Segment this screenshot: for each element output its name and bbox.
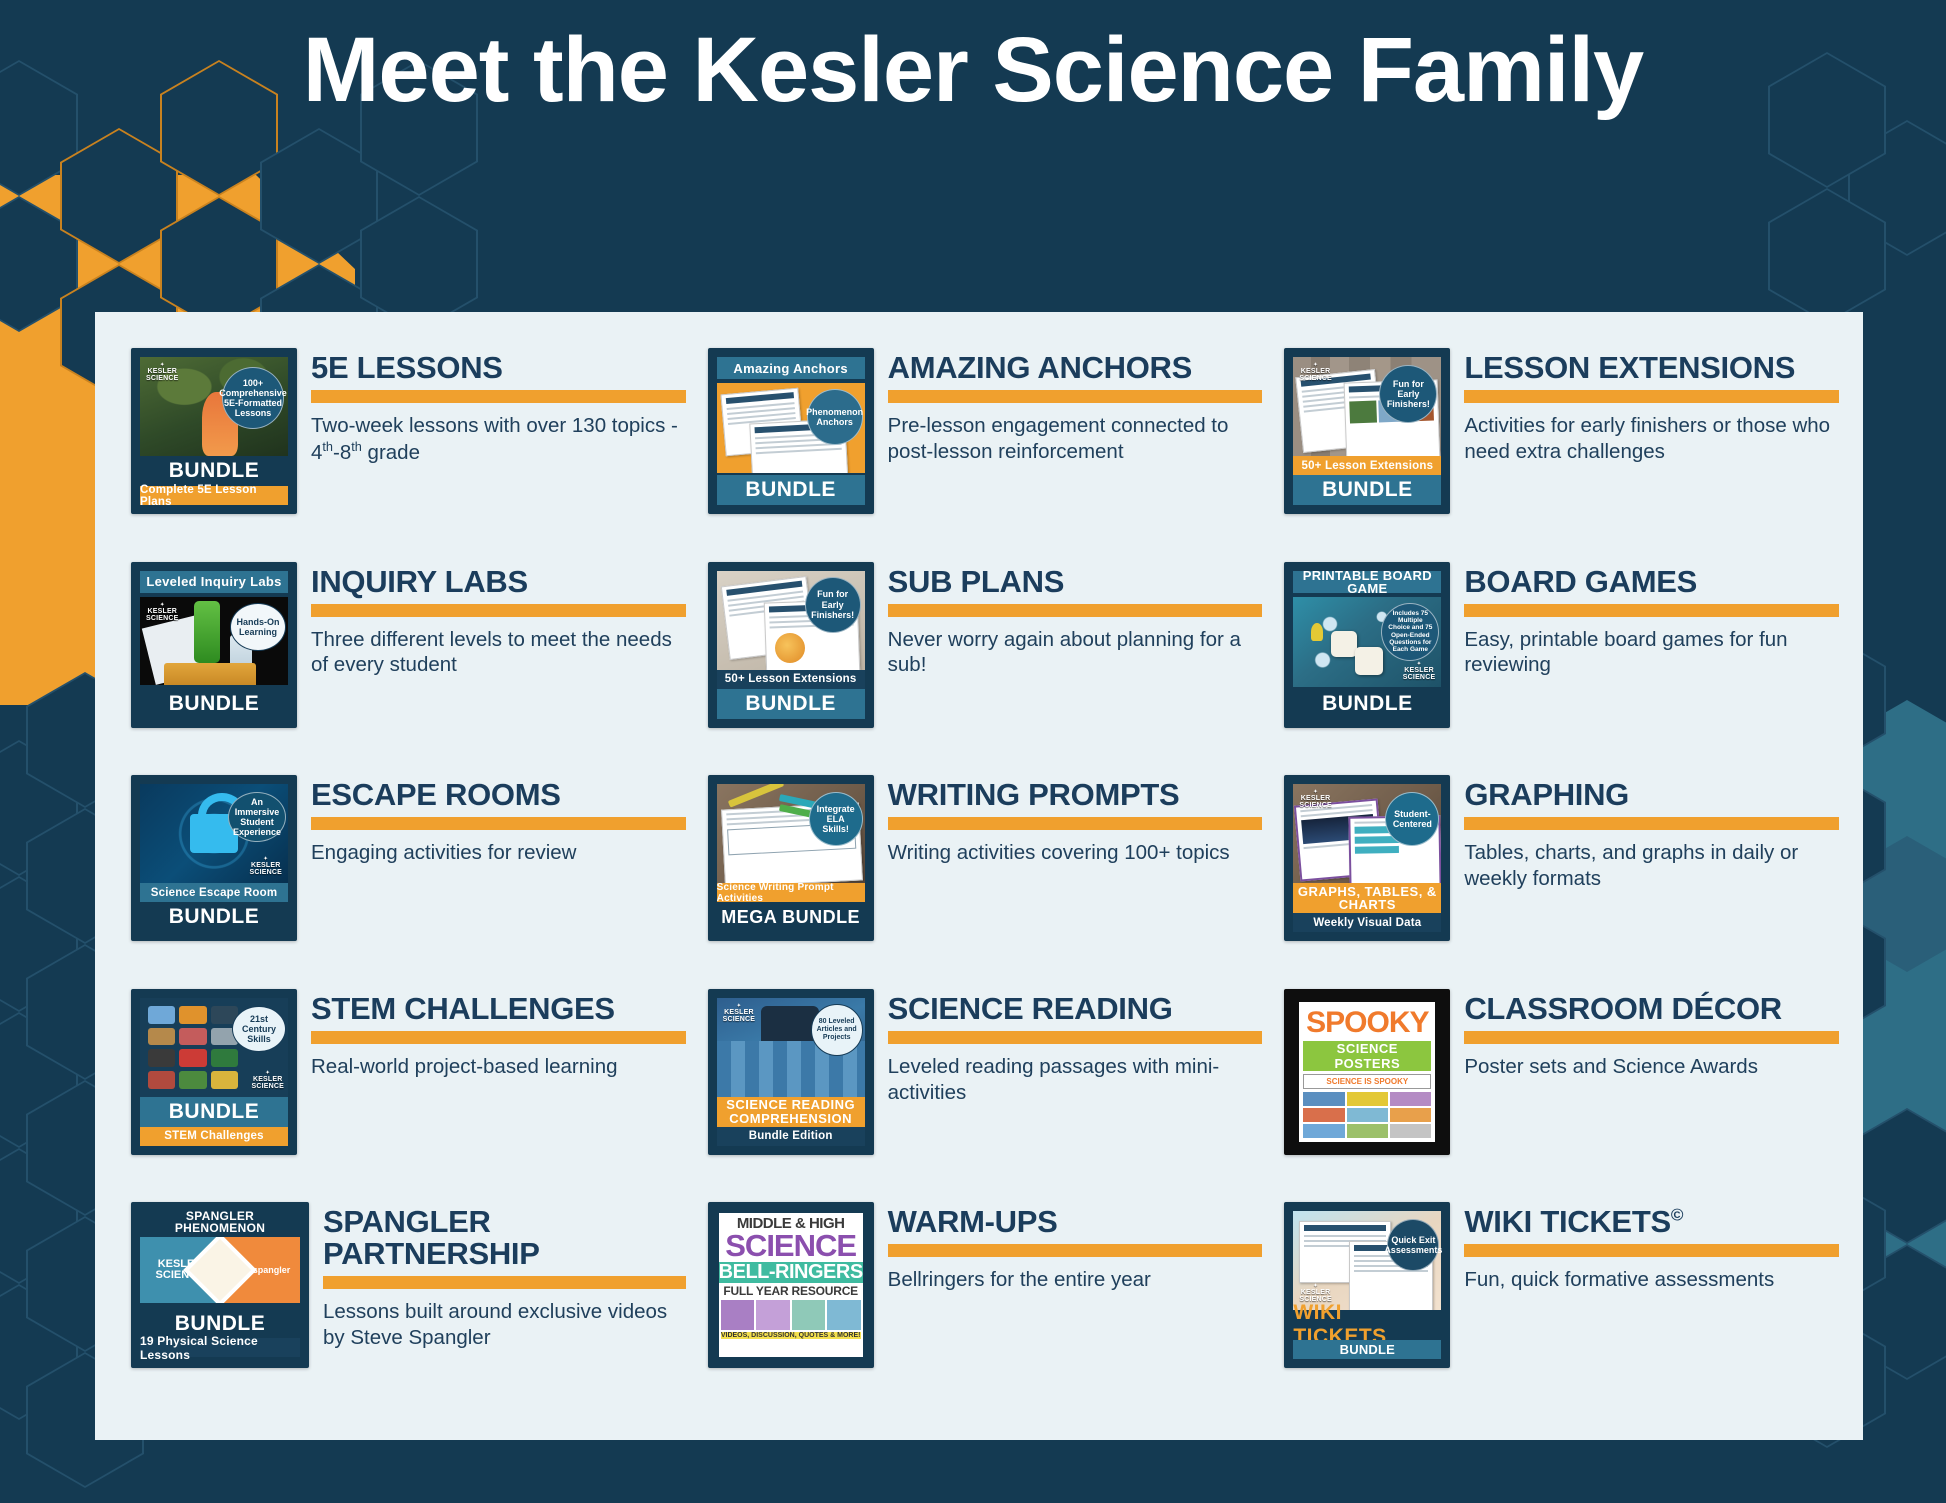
thumbnail-bundle-label: BUNDLE	[1293, 689, 1441, 719]
footer-strip-label: VIDEOS, DISCUSSION, QUOTES & MORE!	[721, 1332, 861, 1339]
card-description: Poster sets and Science Awards	[1464, 1054, 1839, 1080]
page-title: Meet the Kesler Science Family	[0, 18, 1946, 124]
card-text-sub-plans: SUB PLANS Never worry again about planni…	[888, 562, 1263, 679]
title-rule	[1464, 390, 1839, 403]
card-text-spangler-partnership: SPANGLER PARTNERSHIP Lessons built aroun…	[323, 1202, 686, 1351]
tree-icon	[179, 1071, 206, 1089]
card-text-escape-rooms: ESCAPE ROOMS Engaging activities for rev…	[311, 775, 686, 866]
card-title: WARM-UPS	[888, 1206, 1263, 1238]
card-description: Lessons built around exclusive videos by…	[323, 1299, 686, 1351]
die-icon	[1331, 631, 1357, 657]
thumbnail-bundle-label: BUNDLE	[140, 456, 288, 486]
science-label: SCIENCE	[719, 1231, 863, 1260]
title-rule	[1464, 1244, 1839, 1257]
birdhouse-icon	[179, 1006, 206, 1024]
thumbnail-badge: Phenomenon Anchors	[807, 389, 863, 445]
product-card-classroom-decor[interactable]: SPOOKY SCIENCE POSTERS SCIENCE IS SPOOKY…	[1272, 989, 1839, 1203]
full-year-label: FULL YEAR RESOURCE	[719, 1284, 863, 1298]
card-description: Real-world project-based learning	[311, 1054, 686, 1080]
thumbnail-badge: Fun for Early Finishers!	[805, 577, 861, 633]
card-title: LESSON EXTENSIONS	[1464, 352, 1839, 384]
thumbnail-badge: Integrate ELA Skills!	[809, 792, 863, 846]
card-description: Pre-lesson engagement connected to post-…	[888, 413, 1263, 465]
thumbnail-badge: An Immersive Student Experience	[228, 792, 286, 842]
product-card-inquiry-labs[interactable]: Leveled Inquiry Labs ✦KESLERSCIENCE Hand…	[119, 562, 686, 776]
thumbnail-spangler[interactable]: SPANGLER PHENOMENON KESLERSCIENCE steves…	[131, 1202, 309, 1368]
thumbnail-sub-label: 50+ Lesson Extensions	[1293, 456, 1441, 475]
poster-grid	[1303, 1092, 1431, 1138]
thumbnail-sub-label: 50+ Lesson Extensions	[717, 670, 865, 689]
product-grid: ✦KESLERSCIENCE 100+ Comprehensive 5E-For…	[95, 312, 1863, 1440]
card-text-lesson-extensions: LESSON EXTENSIONS Activities for early f…	[1464, 348, 1839, 465]
thumbnail-lesson-extensions[interactable]: ✦KESLERSCIENCE Fun for Early Finishers! …	[1284, 348, 1450, 514]
thumbnail-writing-prompts[interactable]: Integrate ELA Skills! Science Writing Pr…	[708, 775, 874, 941]
terrarium-icon	[148, 1028, 175, 1046]
title-rule	[1464, 1031, 1839, 1044]
thumbnail-sub-label: Bundle Edition	[717, 1127, 865, 1146]
thumbnail-bundle-label: BUNDLE	[717, 689, 865, 719]
card-title: INQUIRY LABS	[311, 566, 686, 598]
card-text-5e-lessons: 5E LESSONS Two-week lessons with over 13…	[311, 348, 686, 465]
card-description: Never worry again about planning for a s…	[888, 627, 1263, 679]
soda-bottle	[194, 601, 220, 663]
parachute-icon	[179, 1028, 206, 1046]
title-rule	[888, 1244, 1263, 1257]
preview-grid	[721, 1300, 861, 1330]
card-text-stem-challenges: STEM CHALLENGES Real-world project-based…	[311, 989, 686, 1080]
product-card-warm-ups[interactable]: MIDDLE & HIGH SCIENCE BELL-RINGERS FULL …	[696, 1202, 1263, 1416]
card-text-inquiry-labs: INQUIRY LABS Three different levels to m…	[311, 562, 686, 679]
product-card-science-reading[interactable]: ✦KESLERSCIENCE 80 Leveled Articles and P…	[696, 989, 1263, 1203]
posters-heading: SCIENCE POSTERS	[1303, 1041, 1431, 1071]
strawberry-icon	[179, 1049, 206, 1067]
card-text-writing-prompts: WRITING PROMPTS Writing activities cover…	[888, 775, 1263, 866]
product-card-writing-prompts[interactable]: Integrate ELA Skills! Science Writing Pr…	[696, 775, 1263, 989]
thumbnail-bundle-label: BUNDLE	[140, 902, 288, 932]
card-description: Activities for early finishers or those …	[1464, 413, 1839, 465]
thumbnail-board-games[interactable]: PRINTABLE BOARD GAME Includes 75 Multipl…	[1284, 562, 1450, 728]
thumbnail-warm-ups[interactable]: MIDDLE & HIGH SCIENCE BELL-RINGERS FULL …	[708, 1202, 874, 1368]
thumbnail-badge: Fun for Early Finishers!	[1379, 365, 1437, 423]
title-rule	[311, 817, 686, 830]
card-text-science-reading: SCIENCE READING Leveled reading passages…	[888, 989, 1263, 1106]
pencil-icon	[727, 784, 783, 808]
card-description: Leveled reading passages with mini-activ…	[888, 1054, 1263, 1106]
thumbnail-sub-label: Weekly Visual Data	[1293, 913, 1441, 932]
kesler-science-logo: ✦KESLERSCIENCE	[1299, 790, 1332, 809]
copyright-symbol: ©	[1671, 1206, 1683, 1225]
kesler-science-logo: ✦KESLERSCIENCE	[1299, 1284, 1332, 1303]
title-rule	[1464, 604, 1839, 617]
thumbnail-inquiry-labs[interactable]: Leveled Inquiry Labs ✦KESLERSCIENCE Hand…	[131, 562, 297, 728]
card-description: Two-week lessons with over 130 topics - …	[311, 413, 686, 465]
title-rule	[311, 604, 686, 617]
product-card-wiki-tickets[interactable]: Quick Exit Assessments ✦KESLERSCIENCE WI…	[1272, 1202, 1839, 1416]
kesler-science-logo: ✦KESLERSCIENCE	[249, 857, 282, 876]
card-title: 5E LESSONS	[311, 352, 686, 384]
product-card-5e-lessons[interactable]: ✦KESLERSCIENCE 100+ Comprehensive 5E-For…	[119, 348, 686, 562]
card-title-main: WIKI TICKETS	[1464, 1204, 1671, 1239]
product-card-spangler-partnership[interactable]: SPANGLER PHENOMENON KESLERSCIENCE steves…	[119, 1202, 686, 1416]
thumbnail-bundle-label: WIKI TICKETS	[1293, 1310, 1441, 1340]
card-title: SUB PLANS	[888, 566, 1263, 598]
card-text-amazing-anchors: AMAZING ANCHORS Pre-lesson engagement co…	[888, 348, 1263, 465]
card-title: WIKI TICKETS©	[1464, 1206, 1839, 1238]
card-text-graphing: GRAPHING Tables, charts, and graphs in d…	[1464, 775, 1839, 892]
thumbnail-sub-label: Science Escape Room	[140, 883, 288, 902]
product-card-board-games[interactable]: PRINTABLE BOARD GAME Includes 75 Multipl…	[1272, 562, 1839, 776]
card-text-board-games: BOARD GAMES Easy, printable board games …	[1464, 562, 1839, 679]
card-description: Three different levels to meet the needs…	[311, 627, 686, 679]
thumbnail-top-label: SPANGLER PHENOMENON	[140, 1211, 300, 1233]
thumbnail-badge: 80 Leveled Articles and Projects	[811, 1004, 863, 1056]
thumbnail-wiki-tickets[interactable]: Quick Exit Assessments ✦KESLERSCIENCE WI…	[1284, 1202, 1450, 1368]
thumbnail-badge: Includes 75 Multiple Choice and 75 Open-…	[1381, 603, 1439, 661]
thumbnail-sub-label: STEM Challenges	[140, 1127, 288, 1146]
product-card-graphing[interactable]: ✦KESLERSCIENCE Student-Centered GRAPHS, …	[1272, 775, 1839, 989]
thumbnail-artwork: KESLERSCIENCE stevespangler	[140, 1237, 300, 1303]
thumbnail-bundle-label: MEGA BUNDLE	[717, 902, 865, 932]
title-rule	[888, 817, 1263, 830]
product-card-escape-rooms[interactable]: An Immersive Student Experience ✦KESLERS…	[119, 775, 686, 989]
thumbnail-top-label: Leveled Inquiry Labs	[140, 571, 288, 593]
thumbnail-top-label: Amazing Anchors	[717, 357, 865, 379]
product-card-lesson-extensions[interactable]: ✦KESLERSCIENCE Fun for Early Finishers! …	[1272, 348, 1839, 562]
card-title: ESCAPE ROOMS	[311, 779, 686, 811]
thumbnail-graphing[interactable]: ✦KESLERSCIENCE Student-Centered GRAPHS, …	[1284, 775, 1450, 941]
kesler-science-logo: ✦KESLERSCIENCE	[251, 1071, 284, 1090]
title-rule	[888, 604, 1263, 617]
title-rule	[888, 1031, 1263, 1044]
thumbnail-sub-plans[interactable]: Fun for Early Finishers! 50+ Lesson Exte…	[708, 562, 874, 728]
card-description: Fun, quick formative assessments	[1464, 1267, 1839, 1293]
content-panel: ✦KESLERSCIENCE 100+ Comprehensive 5E-For…	[95, 312, 1863, 1440]
card-title: GRAPHING	[1464, 779, 1839, 811]
card-title: AMAZING ANCHORS	[888, 352, 1263, 384]
thumbnail-sub-label: Science Writing Prompt Activities	[717, 883, 865, 902]
thumbnail-bundle-label: BUNDLE	[140, 1097, 288, 1127]
thumbnail-badge: Hands-On Learning	[230, 603, 286, 651]
bell-ringers-label: BELL-RINGERS	[719, 1262, 863, 1283]
kesler-science-logo: ✦KESLERSCIENCE	[146, 603, 179, 622]
title-rule	[888, 390, 1263, 403]
thumbnail-sub-label: Complete 5E Lesson Plans	[140, 486, 288, 505]
product-card-stem-challenges[interactable]: 21st Century Skills ✦KESLERSCIENCE BUNDL…	[119, 989, 686, 1203]
card-description: Writing activities covering 100+ topics	[888, 840, 1263, 866]
title-rule	[311, 390, 686, 403]
thumbnail-sub-label: 19 Physical Science Lessons	[140, 1338, 300, 1357]
thumbnail-artwork: MIDDLE & HIGH SCIENCE BELL-RINGERS FULL …	[719, 1213, 863, 1357]
card-text-wiki-tickets: WIKI TICKETS© Fun, quick formative asses…	[1464, 1202, 1839, 1293]
thumbnail-artwork: SPOOKY SCIENCE POSTERS SCIENCE IS SPOOKY	[1299, 1002, 1435, 1142]
thumbnail-classroom-decor[interactable]: SPOOKY SCIENCE POSTERS SCIENCE IS SPOOKY	[1284, 989, 1450, 1155]
card-title: BOARD GAMES	[1464, 566, 1839, 598]
thumbnail-stem-challenges[interactable]: 21st Century Skills ✦KESLERSCIENCE BUNDL…	[131, 989, 297, 1155]
thumbnail-badge: 100+ Comprehensive 5E-Formatted Lessons	[222, 367, 284, 429]
card-title: SPANGLER PARTNERSHIP	[323, 1206, 686, 1270]
product-card-amazing-anchors[interactable]: Amazing Anchors Phenomenon Anchors BUNDL…	[696, 348, 1263, 562]
thumbnail-top-label: PRINTABLE BOARD GAME	[1293, 571, 1441, 593]
plant-icon	[211, 1049, 238, 1067]
kesler-science-logo: ✦KESLERSCIENCE	[1403, 662, 1436, 681]
die-icon	[1355, 647, 1383, 675]
thumbnail-bundle-label: BUNDLE	[717, 475, 865, 505]
thumbnail-amazing-anchors[interactable]: Amazing Anchors Phenomenon Anchors BUNDL…	[708, 348, 874, 514]
thumbnail-badge: 21st Century Skills	[232, 1006, 286, 1052]
card-title: SCIENCE READING	[888, 993, 1263, 1025]
thumbnail-bundle-label: SCIENCE READING COMPREHENSION	[717, 1097, 865, 1127]
thumbnail-bundle-label: GRAPHS, TABLES, & CHARTS	[1293, 883, 1441, 913]
card-title: CLASSROOM DÉCOR	[1464, 993, 1839, 1025]
science-spooky-label: SCIENCE IS SPOOKY	[1303, 1074, 1431, 1089]
egg-decoration	[775, 633, 805, 663]
rocket-icon	[148, 1006, 175, 1024]
card-title: WRITING PROMPTS	[888, 779, 1263, 811]
card-text-classroom-decor: CLASSROOM DÉCOR Poster sets and Science …	[1464, 989, 1839, 1080]
house-icon	[148, 1071, 175, 1089]
title-rule	[1464, 817, 1839, 830]
card-description: Tables, charts, and graphs in daily or w…	[1464, 840, 1839, 892]
thumbnail-escape-rooms[interactable]: An Immersive Student Experience ✦KESLERS…	[131, 775, 297, 941]
card-text-warm-ups: WARM-UPS Bellringers for the entire year	[888, 1202, 1263, 1293]
horse-icon	[148, 1049, 175, 1067]
spooky-heading: SPOOKY	[1299, 1002, 1435, 1038]
product-card-sub-plans[interactable]: Fun for Early Finishers! 50+ Lesson Exte…	[696, 562, 1263, 776]
title-rule	[311, 1031, 686, 1044]
kesler-science-logo: ✦KESLERSCIENCE	[1299, 363, 1332, 382]
thumbnail-science-reading[interactable]: ✦KESLERSCIENCE 80 Leveled Articles and P…	[708, 989, 874, 1155]
thumbnail-5e-lessons[interactable]: ✦KESLERSCIENCE 100+ Comprehensive 5E-For…	[131, 348, 297, 514]
kesler-science-logo: ✦KESLERSCIENCE	[146, 363, 179, 382]
thumbnail-bundle-label: BUNDLE	[1293, 475, 1441, 505]
card-description: Bellringers for the entire year	[888, 1267, 1263, 1293]
lab-supplies	[164, 663, 256, 685]
key-icon	[211, 1071, 238, 1089]
title-rule	[323, 1276, 686, 1289]
card-description: Easy, printable board games for fun revi…	[1464, 627, 1839, 679]
thumbnail-bundle-label: BUNDLE	[140, 689, 288, 719]
thumbnail-sub-label: BUNDLE	[1293, 1340, 1441, 1359]
card-title: STEM CHALLENGES	[311, 993, 686, 1025]
card-description: Engaging activities for review	[311, 840, 686, 866]
meeple-icon	[1311, 623, 1323, 641]
kesler-science-logo: ✦KESLERSCIENCE	[723, 1004, 756, 1023]
